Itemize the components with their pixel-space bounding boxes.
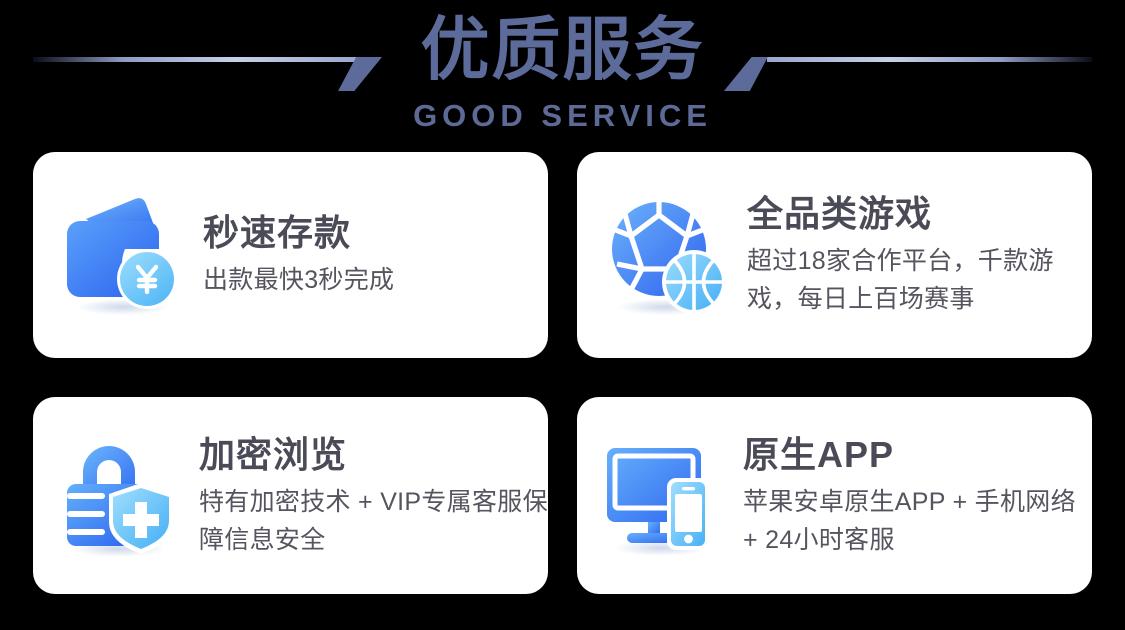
card-description: 出款最快3秒完成 [203, 261, 394, 299]
card-text: 原生APP 苹果安卓原生APP + 手机网络 + 24小时客服 [743, 433, 1092, 559]
card-title: 加密浏览 [199, 433, 548, 477]
page-title: 优质服务 [0, 10, 1125, 90]
card-title: 秒速存款 [203, 211, 394, 255]
card-title: 原生APP [743, 433, 1092, 477]
feature-card-games[interactable]: 全品类游戏 超过18家合作平台，千款游戏，每日上百场赛事 [577, 152, 1092, 358]
feature-card-grid: 秒速存款 出款最快3秒完成 [33, 152, 1092, 594]
page-subtitle: GOOD SERVICE [0, 98, 1125, 134]
card-description: 苹果安卓原生APP + 手机网络 + 24小时客服 [743, 483, 1092, 559]
page-header: 优质服务 GOOD SERVICE [0, 0, 1125, 145]
card-title: 全品类游戏 [747, 192, 1092, 236]
card-text: 全品类游戏 超过18家合作平台，千款游戏，每日上百场赛事 [747, 192, 1092, 318]
feature-card-encryption[interactable]: 加密浏览 特有加密技术 + VIP专属客服保障信息安全 [33, 397, 548, 594]
feature-card-deposit[interactable]: 秒速存款 出款最快3秒完成 [33, 152, 548, 358]
lock-shield-icon [57, 436, 181, 556]
soccer-basketball-icon [601, 191, 729, 319]
feature-card-native-app[interactable]: 原生APP 苹果安卓原生APP + 手机网络 + 24小时客服 [577, 397, 1092, 594]
card-description: 超过18家合作平台，千款游戏，每日上百场赛事 [747, 242, 1092, 318]
card-description: 特有加密技术 + VIP专属客服保障信息安全 [199, 483, 548, 559]
wallet-yen-icon [57, 191, 185, 319]
card-text: 加密浏览 特有加密技术 + VIP专属客服保障信息安全 [199, 433, 548, 559]
card-text: 秒速存款 出款最快3秒完成 [203, 211, 394, 299]
monitor-phone-icon [601, 436, 725, 556]
poster-root: 优质服务 GOOD SERVICE [0, 0, 1125, 630]
